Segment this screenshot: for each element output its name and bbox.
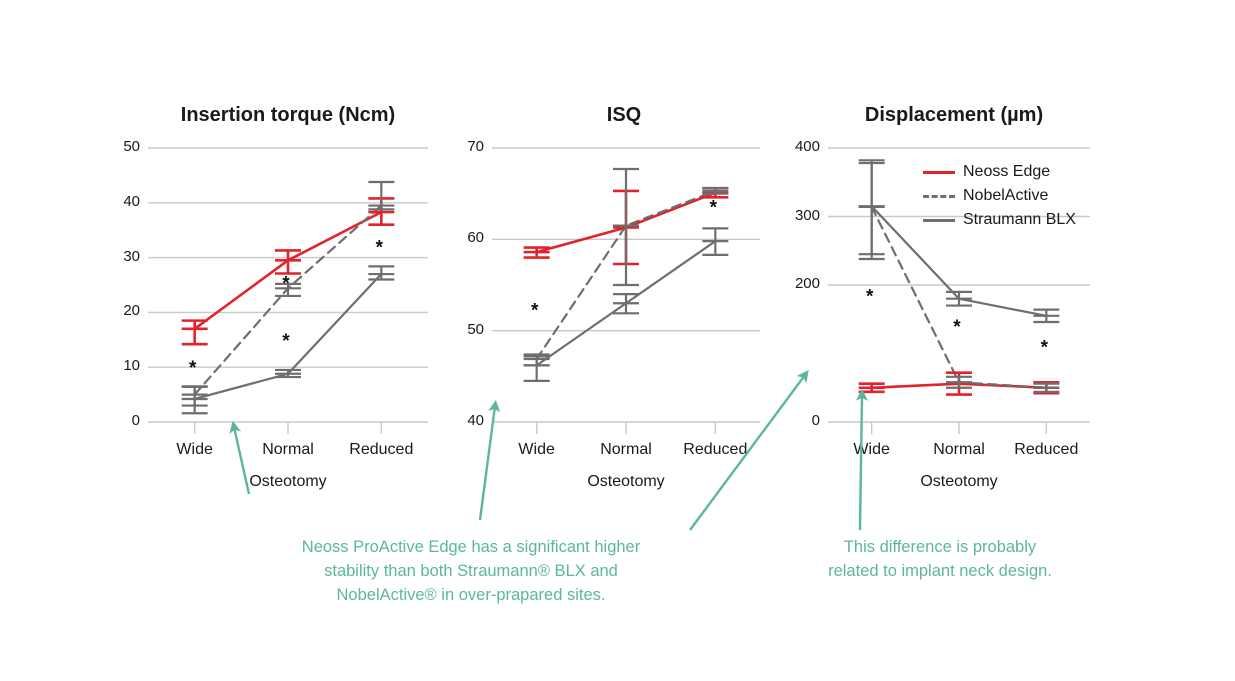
annotation-arrow [234,427,249,494]
figure-root: Insertion torque (Ncm)****01020304050Wid… [0,0,1235,681]
annotation-arrow [860,395,862,530]
annotation-right-text: This difference is probably related to i… [790,536,1090,584]
annotation-left-text: Neoss ProActive Edge has a significant h… [228,536,714,608]
annotation-arrow [480,406,495,520]
annotation-arrow [690,375,805,530]
